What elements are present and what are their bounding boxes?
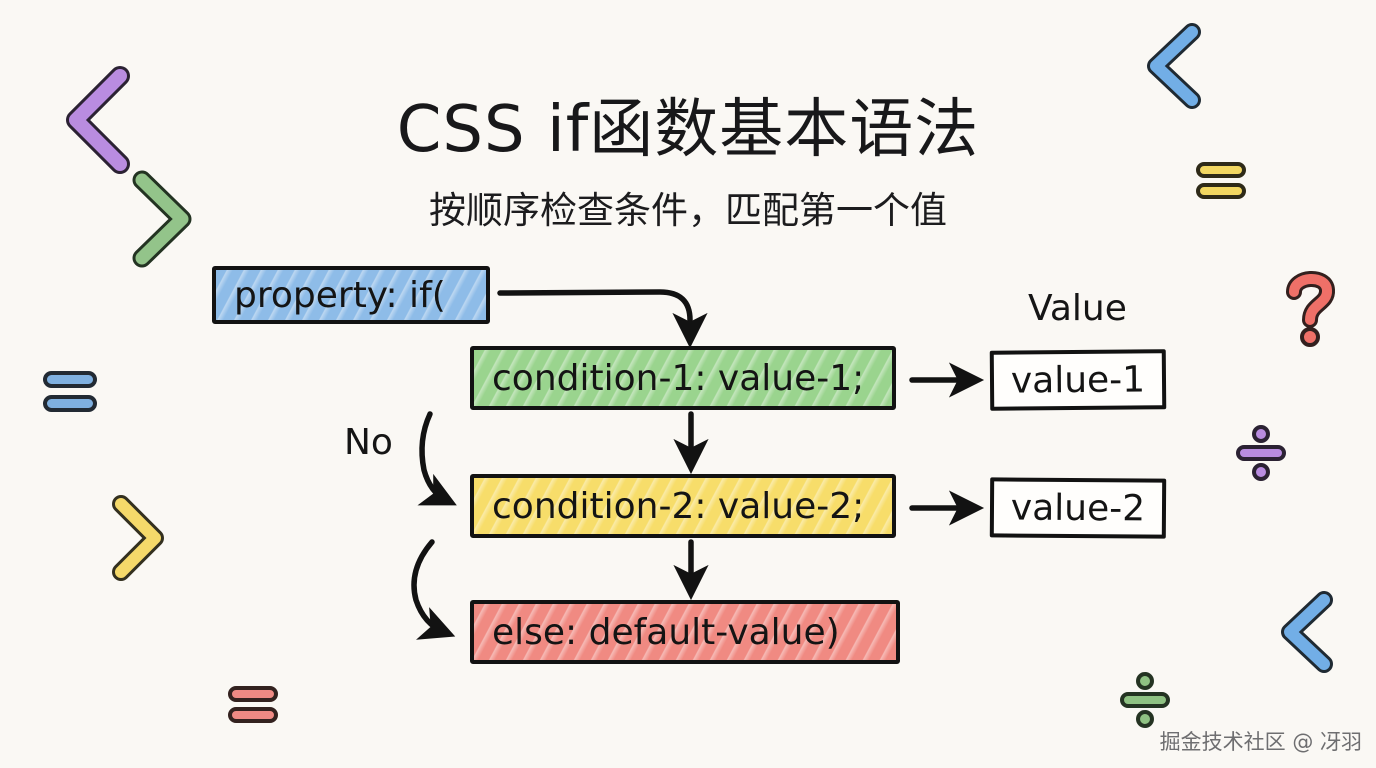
output-box-value-2[interactable]: value-2 [990, 477, 1166, 538]
chevron-right-yellow-icon [108, 495, 170, 581]
flow-box-condition-2-label: condition-2: value-2; [492, 486, 864, 527]
flow-box-condition-2[interactable]: condition-2: value-2; [470, 474, 896, 538]
output-box-value-1[interactable]: value-1 [990, 349, 1167, 411]
flow-box-property[interactable]: property: if( [212, 266, 490, 324]
value-column-heading: Value [1028, 288, 1127, 329]
flow-box-else[interactable]: else: default-value) [470, 600, 900, 664]
divide-green-icon [1118, 672, 1172, 728]
flow-box-condition-1[interactable]: condition-1: value-1; [470, 346, 896, 410]
output-box-value-2-label: value-2 [1011, 487, 1146, 529]
watermark: 掘金技术社区 @ 冴羽 [1160, 726, 1362, 756]
divide-purple-icon [1234, 425, 1288, 481]
no-branch-label: No [344, 422, 393, 463]
arrow-property-to-condition1 [500, 292, 690, 336]
page-subtitle: 按顺序检查条件，匹配第一个值 [0, 180, 1376, 234]
page-title: CSS if函数基本语法 [0, 78, 1376, 170]
diagram-canvas: CSS if函数基本语法 按顺序检查条件，匹配第一个值 [0, 0, 1376, 768]
flow-box-else-label: else: default-value) [492, 612, 840, 653]
arrow-no-branch-2 [414, 542, 444, 632]
equals-blue-icon [40, 368, 102, 416]
output-box-value-1-label: value-1 [1011, 359, 1146, 401]
arrow-no-branch-1 [422, 414, 446, 500]
equals-red-icon [226, 684, 282, 726]
chevron-left-blue-2-icon [1274, 592, 1336, 672]
question-mark-red-icon [1282, 268, 1340, 348]
flow-box-condition-1-label: condition-1: value-1; [492, 358, 864, 399]
flow-box-property-label: property: if( [234, 275, 446, 316]
